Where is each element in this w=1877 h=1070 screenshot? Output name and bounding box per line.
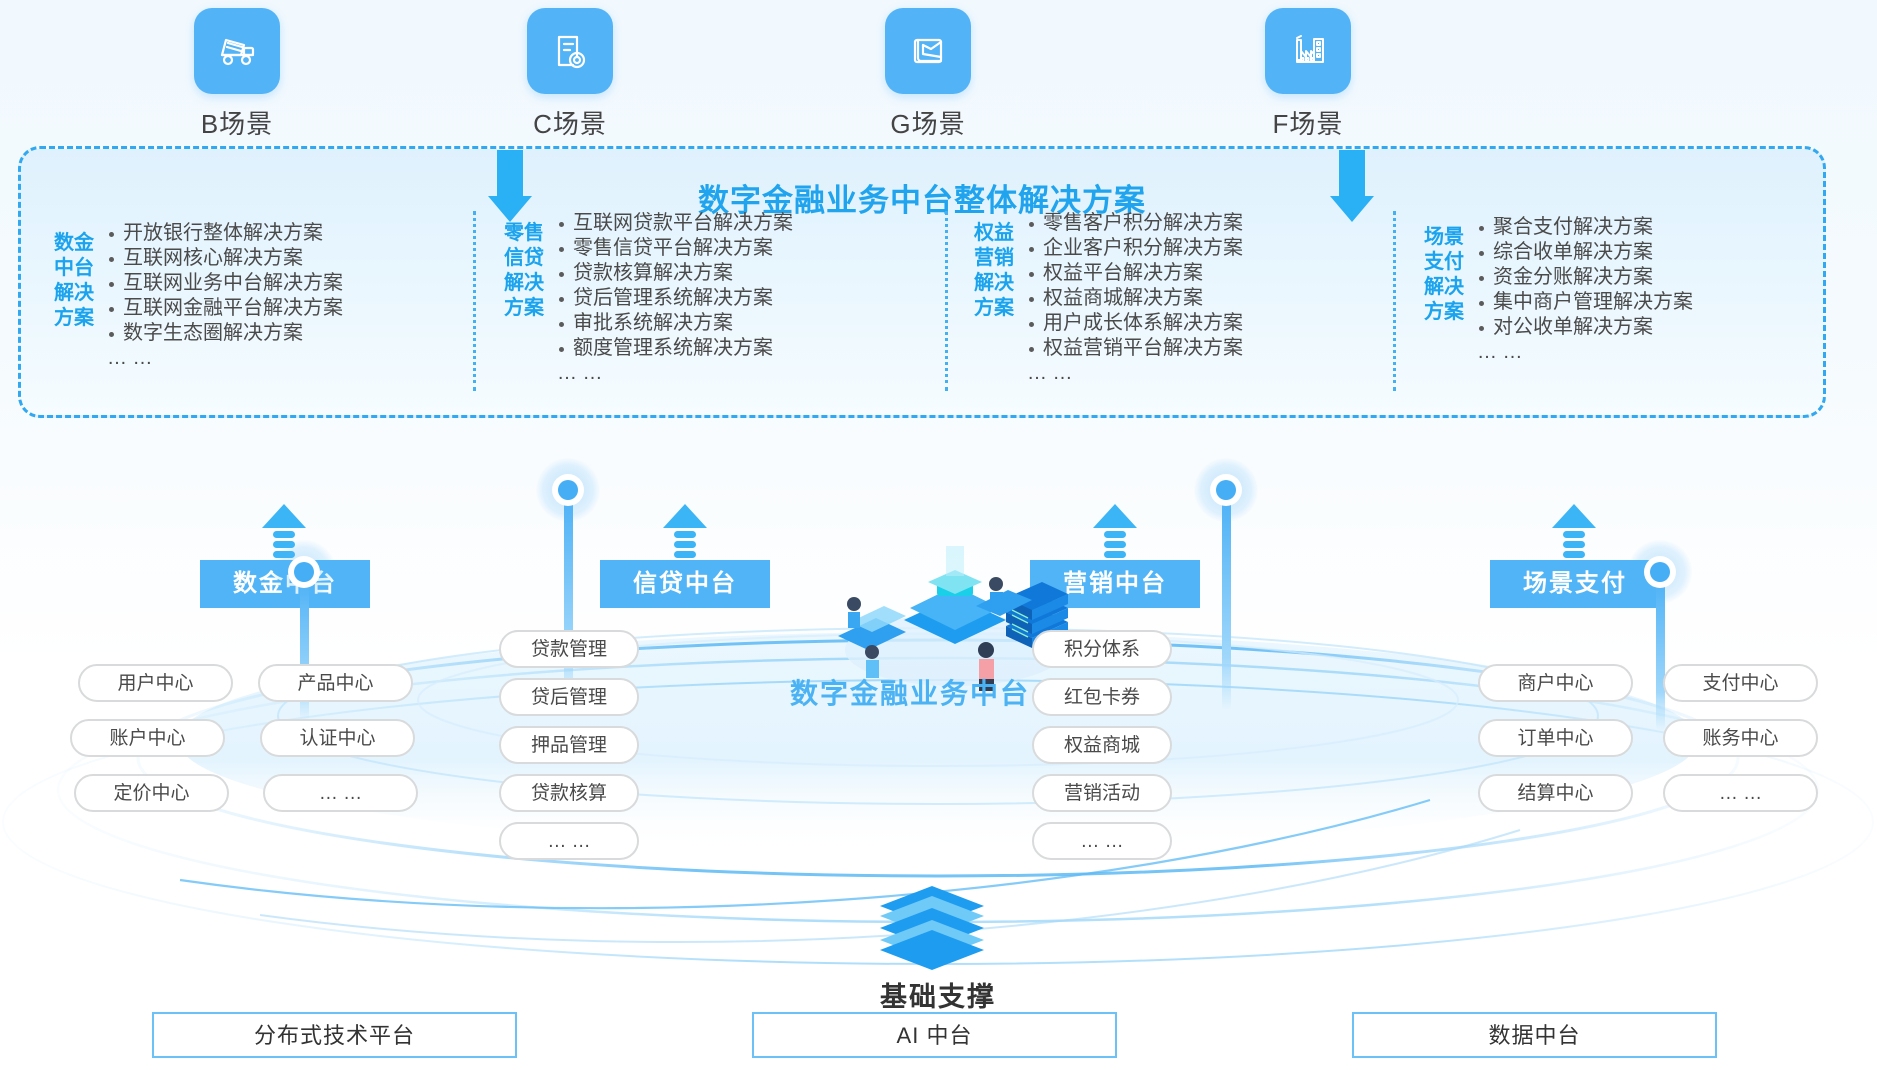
pill-collateral-management[interactable]: 押品管理	[499, 726, 639, 764]
list-item: 用户成长体系解决方案	[1027, 311, 1243, 336]
flag-map-icon	[885, 8, 971, 94]
up-arrow-xindai	[663, 504, 707, 558]
list-ellipsis: … …	[1027, 361, 1243, 386]
list-ellipsis: … …	[107, 346, 343, 371]
list-item: 对公收单解决方案	[1477, 315, 1693, 340]
scenario-title: C场景	[360, 104, 780, 141]
solution-list: 聚合支付解决方案 综合收单解决方案 资金分账解决方案 集中商户管理解决方案 对公…	[1477, 215, 1693, 365]
pill-more-zhifu[interactable]: … …	[1663, 774, 1818, 812]
pill-more-xindai[interactable]: … …	[499, 822, 639, 860]
pill-post-loan-management[interactable]: 贷后管理	[499, 678, 639, 716]
list-item: 互联网贷款平台解决方案	[557, 211, 793, 236]
scenario-title: G场景	[718, 104, 1138, 141]
column-label: 场景 支付 解决 方案	[1421, 215, 1467, 325]
list-item: 审批系统解决方案	[557, 311, 793, 336]
base-support-label: 基础支撑	[880, 975, 996, 1014]
list-item: 综合收单解决方案	[1477, 240, 1693, 265]
pill-accounting-center[interactable]: 账务中心	[1663, 719, 1818, 757]
pill-marketing-campaign[interactable]: 营销活动	[1032, 774, 1172, 812]
list-item: 权益营销平台解决方案	[1027, 336, 1243, 361]
list-item: 权益平台解决方案	[1027, 261, 1243, 286]
diagram-canvas: B场景 资金监管 I 企业财资 I …… C场景 消费类 I 新零售 I …… …	[0, 0, 1877, 1070]
base-box-data-platform[interactable]: 数据中台	[1352, 1012, 1717, 1058]
column-divider	[945, 211, 948, 391]
pill-red-packet-coupon[interactable]: 红包卡券	[1032, 678, 1172, 716]
pin-marker-xindai	[536, 458, 600, 522]
list-ellipsis: … …	[1477, 340, 1693, 365]
pill-points-system[interactable]: 积分体系	[1032, 630, 1172, 668]
solution-column-shujin: 数金 中台 解决 方案 开放银行整体解决方案 互联网核心解决方案 互联网业务中台…	[51, 221, 343, 371]
column-label: 零售 信贷 解决 方案	[501, 211, 547, 321]
pill-order-center[interactable]: 订单中心	[1478, 719, 1633, 757]
list-item: 额度管理系统解决方案	[557, 336, 793, 361]
base-box-distributed-tech[interactable]: 分布式技术平台	[152, 1012, 517, 1058]
solution-list: 互联网贷款平台解决方案 零售信贷平台解决方案 贷款核算解决方案 贷后管理系统解决…	[557, 211, 793, 386]
factory-icon	[1265, 8, 1351, 94]
pill-auth-center[interactable]: 认证中心	[260, 719, 415, 757]
list-item: 集中商户管理解决方案	[1477, 290, 1693, 315]
pill-pricing-center[interactable]: 定价中心	[74, 774, 229, 812]
list-item: 互联网金融平台解决方案	[107, 296, 343, 321]
list-item: 贷后管理系统解决方案	[557, 286, 793, 311]
solution-column-lingshou-xindai: 零售 信贷 解决 方案 互联网贷款平台解决方案 零售信贷平台解决方案 贷款核算解…	[501, 211, 793, 386]
list-item: 聚合支付解决方案	[1477, 215, 1693, 240]
pin-stalk	[1222, 500, 1231, 710]
list-item: 企业客户积分解决方案	[1027, 236, 1243, 261]
up-arrow-zhifu	[1552, 504, 1596, 558]
list-item: 零售客户积分解决方案	[1027, 211, 1243, 236]
solution-list: 开放银行整体解决方案 互联网核心解决方案 互联网业务中台解决方案 互联网金融平台…	[107, 221, 343, 371]
list-item: 权益商城解决方案	[1027, 286, 1243, 311]
down-arrow-g	[1330, 150, 1374, 222]
solution-column-quanyi-yingxiao: 权益 营销 解决 方案 零售客户积分解决方案 企业客户积分解决方案 权益平台解决…	[971, 211, 1243, 386]
pin-marker-shujin	[272, 540, 336, 604]
pill-rights-mall[interactable]: 权益商城	[1032, 726, 1172, 764]
pill-more-shujin[interactable]: … …	[263, 774, 418, 812]
pin-marker-yingxiao	[1194, 458, 1258, 522]
list-item: 互联网业务中台解决方案	[107, 271, 343, 296]
solutions-panel: 数字金融业务中台整体解决方案 数金 中台 解决 方案 开放银行整体解决方案 互联…	[18, 146, 1826, 418]
solution-list: 零售客户积分解决方案 企业客户积分解决方案 权益平台解决方案 权益商城解决方案 …	[1027, 211, 1243, 386]
pill-payment-center[interactable]: 支付中心	[1663, 664, 1818, 702]
column-label: 权益 营销 解决 方案	[971, 211, 1017, 321]
pill-more-yingxiao[interactable]: … …	[1032, 822, 1172, 860]
panel-title: 数字金融业务中台整体解决方案	[21, 175, 1823, 220]
pill-loan-accounting[interactable]: 贷款核算	[499, 774, 639, 812]
column-divider	[473, 211, 476, 391]
platform-label: 数字金融业务中台	[790, 672, 1030, 712]
pin-stalk	[564, 500, 573, 700]
pill-loan-management[interactable]: 贷款管理	[499, 630, 639, 668]
pill-user-center[interactable]: 用户中心	[78, 664, 233, 702]
pill-account-center[interactable]: 账户中心	[70, 719, 225, 757]
scenario-title: F场景	[1098, 104, 1518, 141]
list-item: 互联网核心解决方案	[107, 246, 343, 271]
truck-ship-icon	[194, 8, 280, 94]
document-seal-icon	[527, 8, 613, 94]
list-ellipsis: … …	[557, 361, 793, 386]
list-item: 贷款核算解决方案	[557, 261, 793, 286]
pill-settlement-center[interactable]: 结算中心	[1478, 774, 1633, 812]
pill-product-center[interactable]: 产品中心	[258, 664, 413, 702]
layers-stack-icon	[862, 884, 1002, 976]
list-item: 数字生态圈解决方案	[107, 321, 343, 346]
down-arrow-c	[488, 150, 532, 222]
solution-column-changjing-zhifu: 场景 支付 解决 方案 聚合支付解决方案 综合收单解决方案 资金分账解决方案 集…	[1421, 215, 1693, 365]
column-divider	[1393, 211, 1396, 391]
list-item: 资金分账解决方案	[1477, 265, 1693, 290]
column-label: 数金 中台 解决 方案	[51, 221, 97, 331]
list-item: 零售信贷平台解决方案	[557, 236, 793, 261]
pin-marker-zhifu	[1628, 540, 1692, 604]
pill-merchant-center[interactable]: 商户中心	[1478, 664, 1633, 702]
list-item: 开放银行整体解决方案	[107, 221, 343, 246]
base-box-ai-platform[interactable]: AI 中台	[752, 1012, 1117, 1058]
mid-platform-xindai[interactable]: 信贷中台	[600, 560, 770, 608]
